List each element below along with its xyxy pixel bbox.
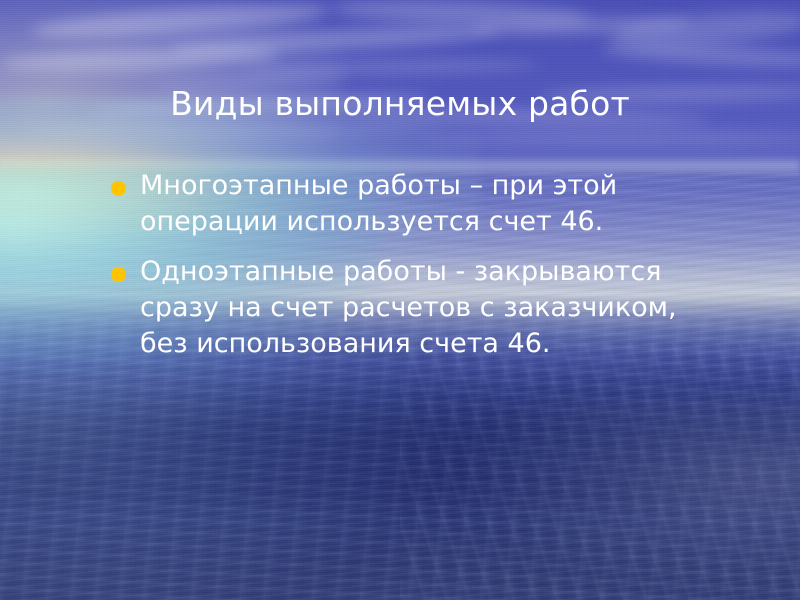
- water-highlight: [440, 395, 800, 600]
- list-item: Одноэтапные работы - закрываются сразу н…: [104, 254, 710, 362]
- list-item-label: Одноэтапные работы - закрываются сразу н…: [140, 254, 710, 362]
- slide-title: Виды выполняемых работ: [40, 84, 760, 124]
- bullet-dot-icon: [111, 267, 126, 282]
- list-item-label: Многоэтапные работы – при этой операции …: [140, 168, 710, 240]
- slide-body: Многоэтапные работы – при этой операции …: [104, 168, 710, 376]
- presentation-slide: Виды выполняемых работ Многоэтапные рабо…: [0, 0, 800, 600]
- list-item: Многоэтапные работы – при этой операции …: [104, 168, 710, 240]
- bullet-dot-icon: [111, 181, 126, 196]
